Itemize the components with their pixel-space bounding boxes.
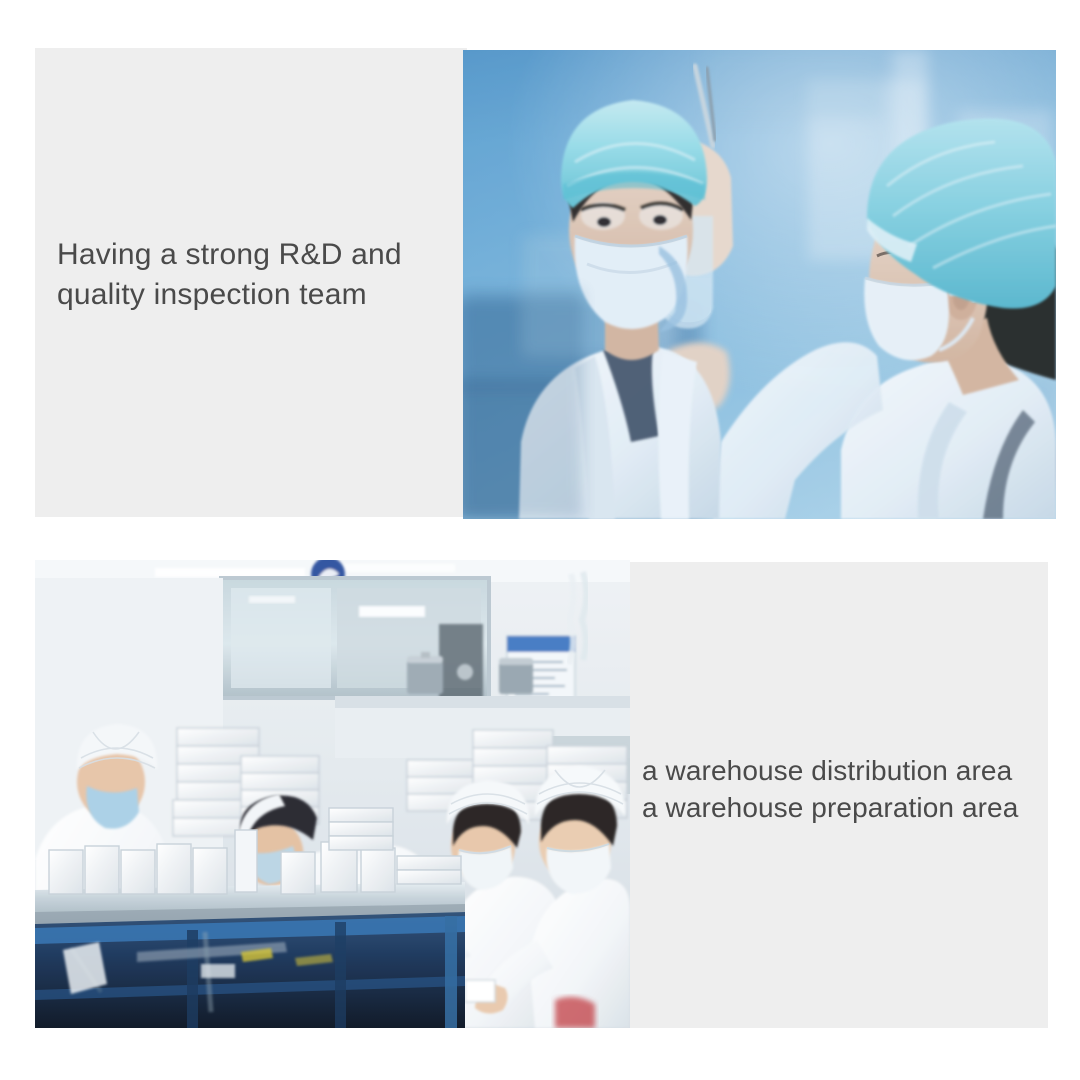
- warehouse-packing-photo: [35, 560, 630, 1028]
- lab-quality-inspection-photo: [463, 50, 1056, 519]
- bottom-caption-text: a warehouse distribution area a warehous…: [642, 752, 1052, 826]
- bottom-feature-block: a warehouse distribution area a warehous…: [35, 558, 1048, 1028]
- top-caption-panel: Having a strong R&D and quality inspecti…: [35, 48, 467, 517]
- product-feature-collage: { "page": { "background_color": "#ffffff…: [0, 0, 1080, 1080]
- top-feature-block: Having a strong R&D and quality inspecti…: [35, 48, 1056, 519]
- top-caption-text: Having a strong R&D and quality inspecti…: [57, 235, 457, 314]
- lab-photo-illustration: [463, 50, 1056, 519]
- warehouse-photo-illustration: [35, 560, 630, 1028]
- bottom-caption-panel: a warehouse distribution area a warehous…: [630, 562, 1048, 1028]
